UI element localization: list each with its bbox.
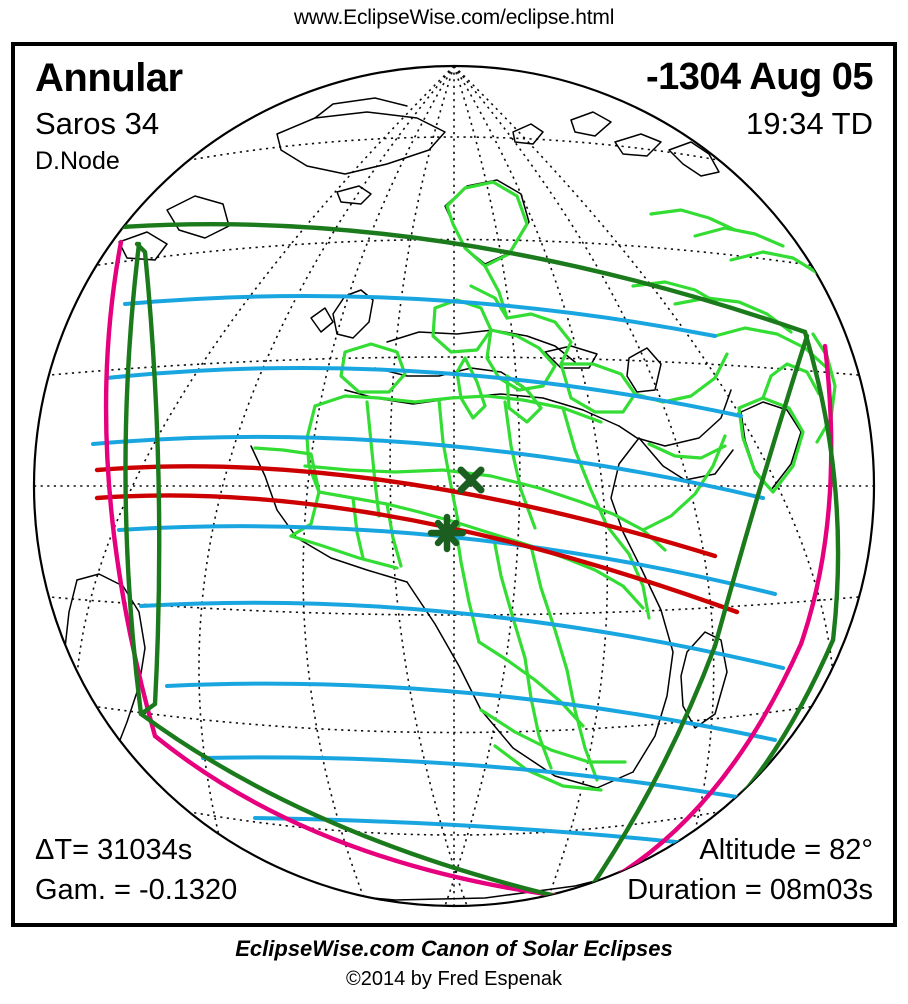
altitude-value: Altitude = 82°: [699, 836, 873, 865]
eclipse-time-label: 19:34 TD: [746, 108, 873, 139]
source-url: www.EclipseWise.com/eclipse.html: [0, 6, 908, 30]
globe-map: [15, 46, 893, 923]
eclipse-date-label: -1304 Aug 05: [646, 58, 873, 96]
copyright-line: ©2014 by Fred Espenak: [0, 968, 908, 991]
eclipse-map-page: www.EclipseWise.com/eclipse.html: [0, 0, 908, 1004]
saros-series-label: Saros 34: [35, 108, 159, 139]
canon-title: EclipseWise.com Canon of Solar Eclipses: [0, 936, 908, 962]
duration-value: Duration = 08m03s: [627, 876, 873, 905]
delta-t-value: ΔT= 31034s: [35, 836, 192, 865]
eclipse-type-label: Annular: [35, 58, 183, 98]
greatest-eclipse-marker: [431, 517, 463, 549]
lunar-node-label: D.Node: [35, 149, 120, 174]
gamma-value: Gam. = -0.1320: [35, 876, 237, 905]
map-frame: Annular Saros 34 D.Node -1304 Aug 05 19:…: [11, 42, 897, 927]
